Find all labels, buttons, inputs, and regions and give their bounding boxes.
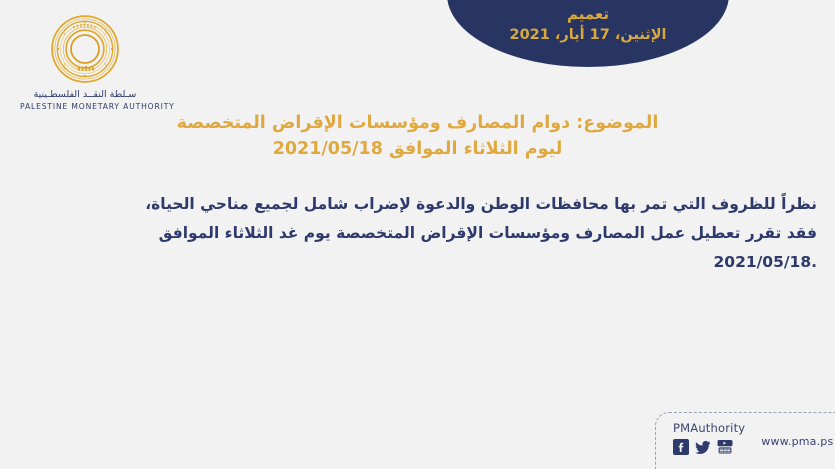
circular-title: تعميم xyxy=(447,4,729,24)
subject-heading: الموضوع: دوام المصارف ومؤسسات الإقراض ال… xyxy=(0,110,835,162)
footer-social-block: PMAuthority xyxy=(673,421,745,455)
body-paragraph: نظراً للظروف التي تمر بها محافظات الوطن … xyxy=(18,190,817,277)
body-line-3: .2021/05/18 xyxy=(18,248,817,277)
body-line-1: نظراً للظروف التي تمر بها محافظات الوطن … xyxy=(18,190,817,219)
pma-seal-icon xyxy=(50,14,120,84)
social-icon-row xyxy=(673,439,733,455)
subject-line-1: الموضوع: دوام المصارف ومؤسسات الإقراض ال… xyxy=(0,110,835,136)
circular-date: الإثنين، 17 أيار، 2021 xyxy=(447,25,729,46)
pma-name-arabic: سـلطة النقــد الفلسطـينية xyxy=(20,89,150,101)
facebook-icon[interactable] xyxy=(673,439,689,455)
body-line-2: فقد تقرر تعطيل عمل المصارف ومؤسسات الإقر… xyxy=(18,219,817,248)
circular-page: تعميم الإثنين، 17 أيار، 2021 xyxy=(0,0,835,469)
twitter-icon[interactable] xyxy=(695,439,711,455)
footer-content: PMAuthority xyxy=(673,421,833,455)
social-handle: PMAuthority xyxy=(673,421,745,435)
website-url[interactable]: www.pma.ps xyxy=(761,435,833,448)
youtube-icon[interactable] xyxy=(717,439,733,455)
pma-logo-block: سـلطة النقــد الفلسطـينية PALESTINE MONE… xyxy=(20,14,150,112)
header-banner-text: تعميم الإثنين، 17 أيار، 2021 xyxy=(447,4,729,46)
subject-line-2: ليوم الثلاثاء الموافق 2021/05/18 xyxy=(0,136,835,162)
